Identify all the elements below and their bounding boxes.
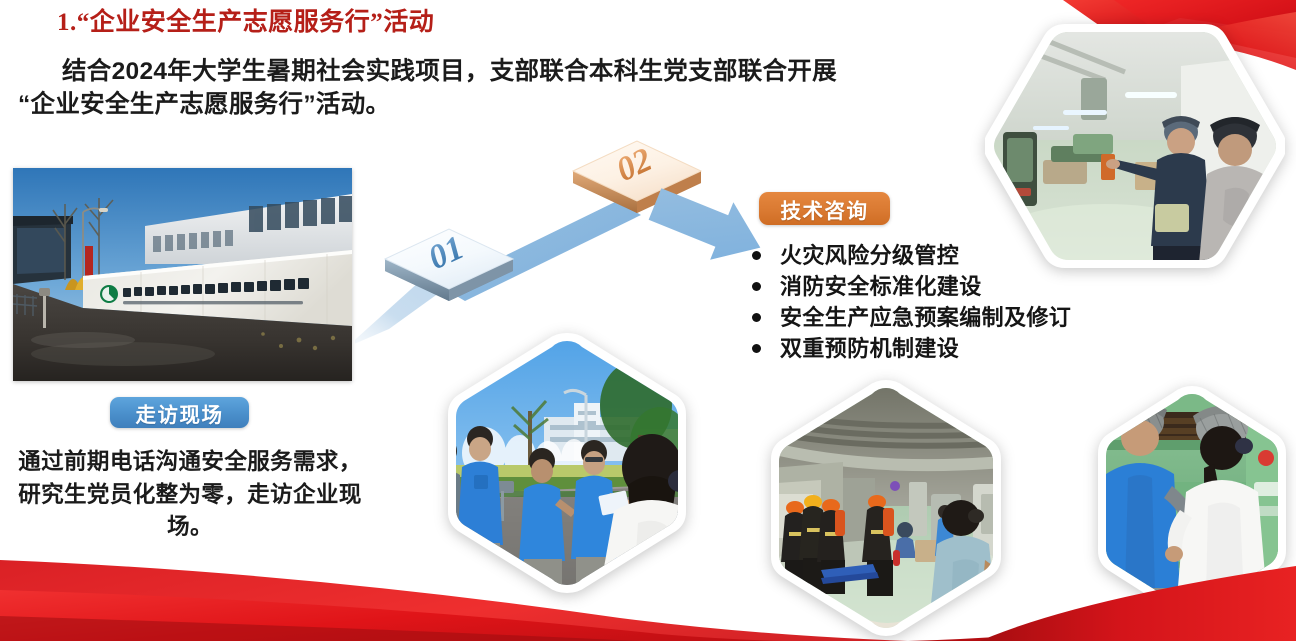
status-badge-tech-consult: 技术咨询 [759, 192, 890, 225]
list-item: 双重预防机制建设 [752, 333, 1071, 364]
bullet-dot-icon [752, 344, 761, 353]
site-visit-caption: 通过前期电话沟通安全服务需求， 研究生党员化整为零，走访企业现场。 [0, 446, 380, 544]
tech-consult-list: 火灾风险分级管控 消防安全标准化建设 安全生产应急预案编制及修订 双重预防机制建… [752, 240, 1071, 364]
factory-entrance-photo [13, 168, 352, 381]
bullet-dot-icon [752, 251, 761, 260]
list-item-label: 火灾风险分级管控 [780, 245, 959, 267]
bullet-dot-icon [752, 282, 761, 291]
site-visit-caption-line-2: 研究生党员化整为零，走访企业现场。 [0, 479, 380, 544]
step-plate-01: 01 [385, 229, 513, 301]
list-item: 安全生产应急预案编制及修订 [752, 302, 1071, 333]
page-title: 1.“企业安全生产志愿服务行”活动 [57, 2, 434, 38]
list-item: 消防安全标准化建设 [752, 271, 1071, 302]
list-item-label: 安全生产应急预案编制及修订 [780, 307, 1071, 329]
list-item-label: 消防安全标准化建设 [780, 276, 982, 298]
slide-canvas: 1.“企业安全生产志愿服务行”活动 结合2024年大学生暑期社会实践项目，支部联… [0, 0, 1296, 641]
status-badge-site-visit: 走访现场 [110, 397, 249, 428]
site-visit-caption-line-1: 通过前期电话沟通安全服务需求， [0, 446, 380, 479]
intro-line-2: “企业安全生产志愿服务行”活动。 [18, 91, 390, 118]
hex-photo-outdoor-group [424, 325, 710, 601]
list-item-label: 双重预防机制建设 [780, 338, 959, 360]
intro-paragraph: 结合2024年大学生暑期社会实践项目，支部联合本科生党支部联合开展 “企业安全生… [18, 56, 978, 121]
list-item: 火灾风险分级管控 [752, 240, 1071, 271]
intro-line-1: 结合2024年大学生暑期社会实践项目，支部联合本科生党支部联合开展 [18, 56, 978, 89]
process-flow-diagram: 01 02 [355, 135, 775, 350]
hex-photo-machine-inspection [1088, 382, 1296, 634]
hex-photo-fire-drill [747, 374, 1025, 641]
bullet-dot-icon [752, 313, 761, 322]
